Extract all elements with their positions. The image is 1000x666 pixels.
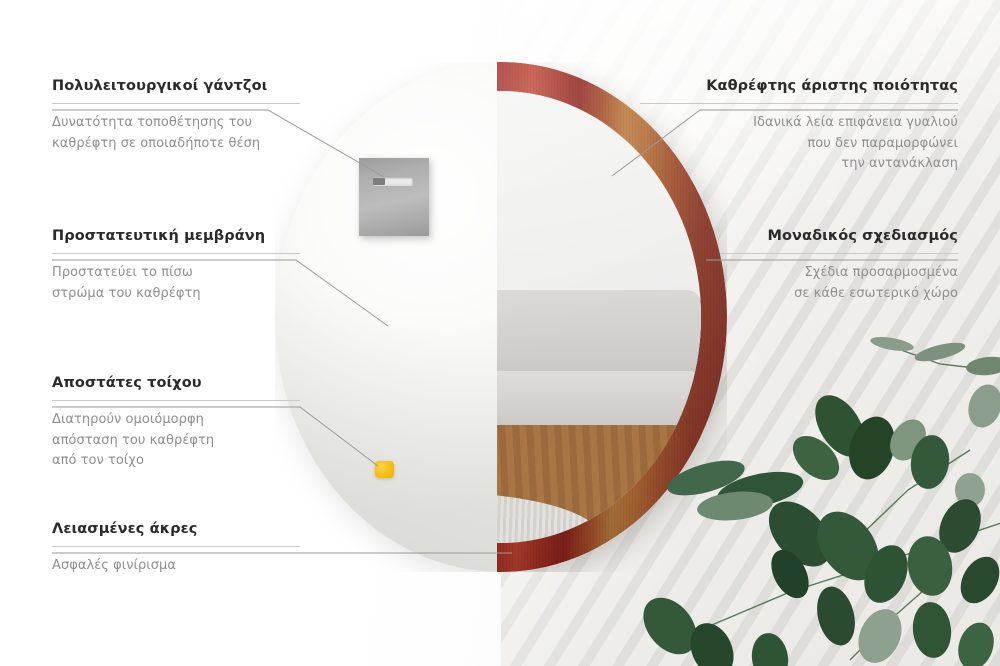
- callout-title: Πολυλειτουργικοί γάντζοι: [52, 78, 300, 95]
- callout-rule: [640, 103, 958, 104]
- eucalyptus-foliage: [640, 330, 1000, 666]
- callout-body: Σχέδια προσαρμοσμένασε κάθε εσωτερικό χώ…: [720, 263, 958, 303]
- callout-rule: [52, 253, 300, 254]
- callout-unique-design: Μοναδικός σχεδιασμός Σχέδια προσαρμοσμέν…: [720, 228, 958, 304]
- callout-top-quality-mirror: Καθρέφτης άριστης ποιότητας Ιδανικά λεία…: [640, 78, 958, 174]
- callout-title: Μοναδικός σχεδιασμός: [720, 228, 958, 245]
- infographic-canvas: Πολυλειτουργικοί γάντζοι Δυνατότητα τοπο…: [0, 0, 1000, 666]
- callout-title: Αποστάτες τοίχου: [52, 375, 300, 392]
- hook-plate-icon: [359, 158, 429, 236]
- callout-multifunctional-hooks: Πολυλειτουργικοί γάντζοι Δυνατότητα τοπο…: [52, 78, 300, 154]
- callout-rule: [720, 253, 958, 254]
- callout-protective-membrane: Προστατευτική μεμβράνη Προστατεύει το πί…: [52, 228, 300, 304]
- callout-body: Προστατεύει το πίσωστρώμα του καθρέφτη: [52, 263, 300, 303]
- hook-slot-icon: [373, 177, 413, 186]
- callout-title: Καθρέφτης άριστης ποιότητας: [640, 78, 958, 95]
- callout-smoothed-edges: Λειασμένες άκρες Ασφαλές φινίρισμα: [52, 521, 392, 577]
- callout-body: Διατηρούν ομοιόμορφηαπόσταση του καθρέφτ…: [52, 410, 300, 470]
- callout-rule: [52, 546, 300, 547]
- callout-title: Προστατευτική μεμβράνη: [52, 228, 300, 245]
- callout-rule: [52, 400, 300, 401]
- wall-spacer-icon: [375, 461, 394, 478]
- callout-body: Δυνατότητα τοποθέτησης τουκαθρέφτη σε οπ…: [52, 113, 300, 153]
- callout-title: Λειασμένες άκρες: [52, 521, 392, 538]
- callout-body: Ιδανικά λεία επιφάνεια γυαλιούπου δεν πα…: [640, 113, 958, 173]
- callout-wall-spacers: Αποστάτες τοίχου Διατηρούν ομοιόμορφηαπό…: [52, 375, 300, 471]
- callout-body: Ασφαλές φινίρισμα: [52, 556, 392, 576]
- callout-rule: [52, 103, 300, 104]
